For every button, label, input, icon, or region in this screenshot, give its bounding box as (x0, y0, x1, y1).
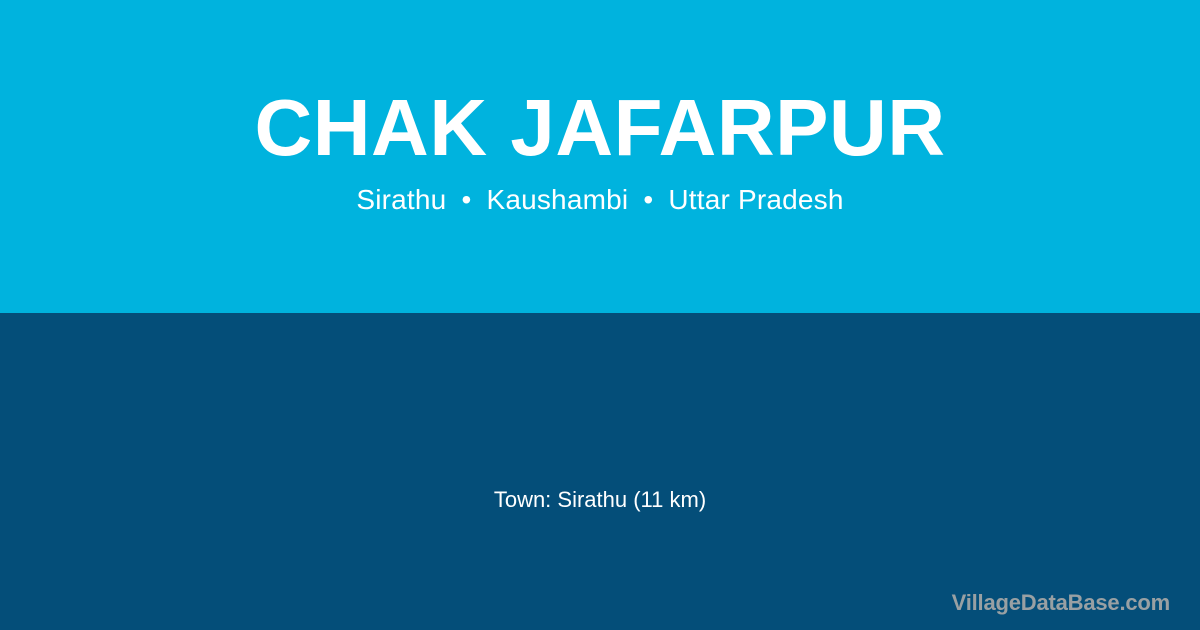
page-title: CHAK JAFARPUR (0, 88, 1200, 168)
breadcrumb-separator-icon: • (454, 186, 478, 214)
breadcrumb-separator-icon: • (636, 186, 660, 214)
nearest-town-detail: Town: Sirathu (11 km) (0, 487, 1200, 513)
site-watermark: VillageDataBase.com (952, 590, 1170, 616)
details-band (0, 313, 1200, 630)
breadcrumb-state: Uttar Pradesh (668, 184, 843, 215)
breadcrumb-subdistrict: Sirathu (356, 184, 446, 215)
village-info-card: CHAK JAFARPUR Sirathu • Kaushambi • Utta… (0, 0, 1200, 630)
breadcrumb: Sirathu • Kaushambi • Uttar Pradesh (0, 186, 1200, 214)
breadcrumb-district: Kaushambi (486, 184, 628, 215)
